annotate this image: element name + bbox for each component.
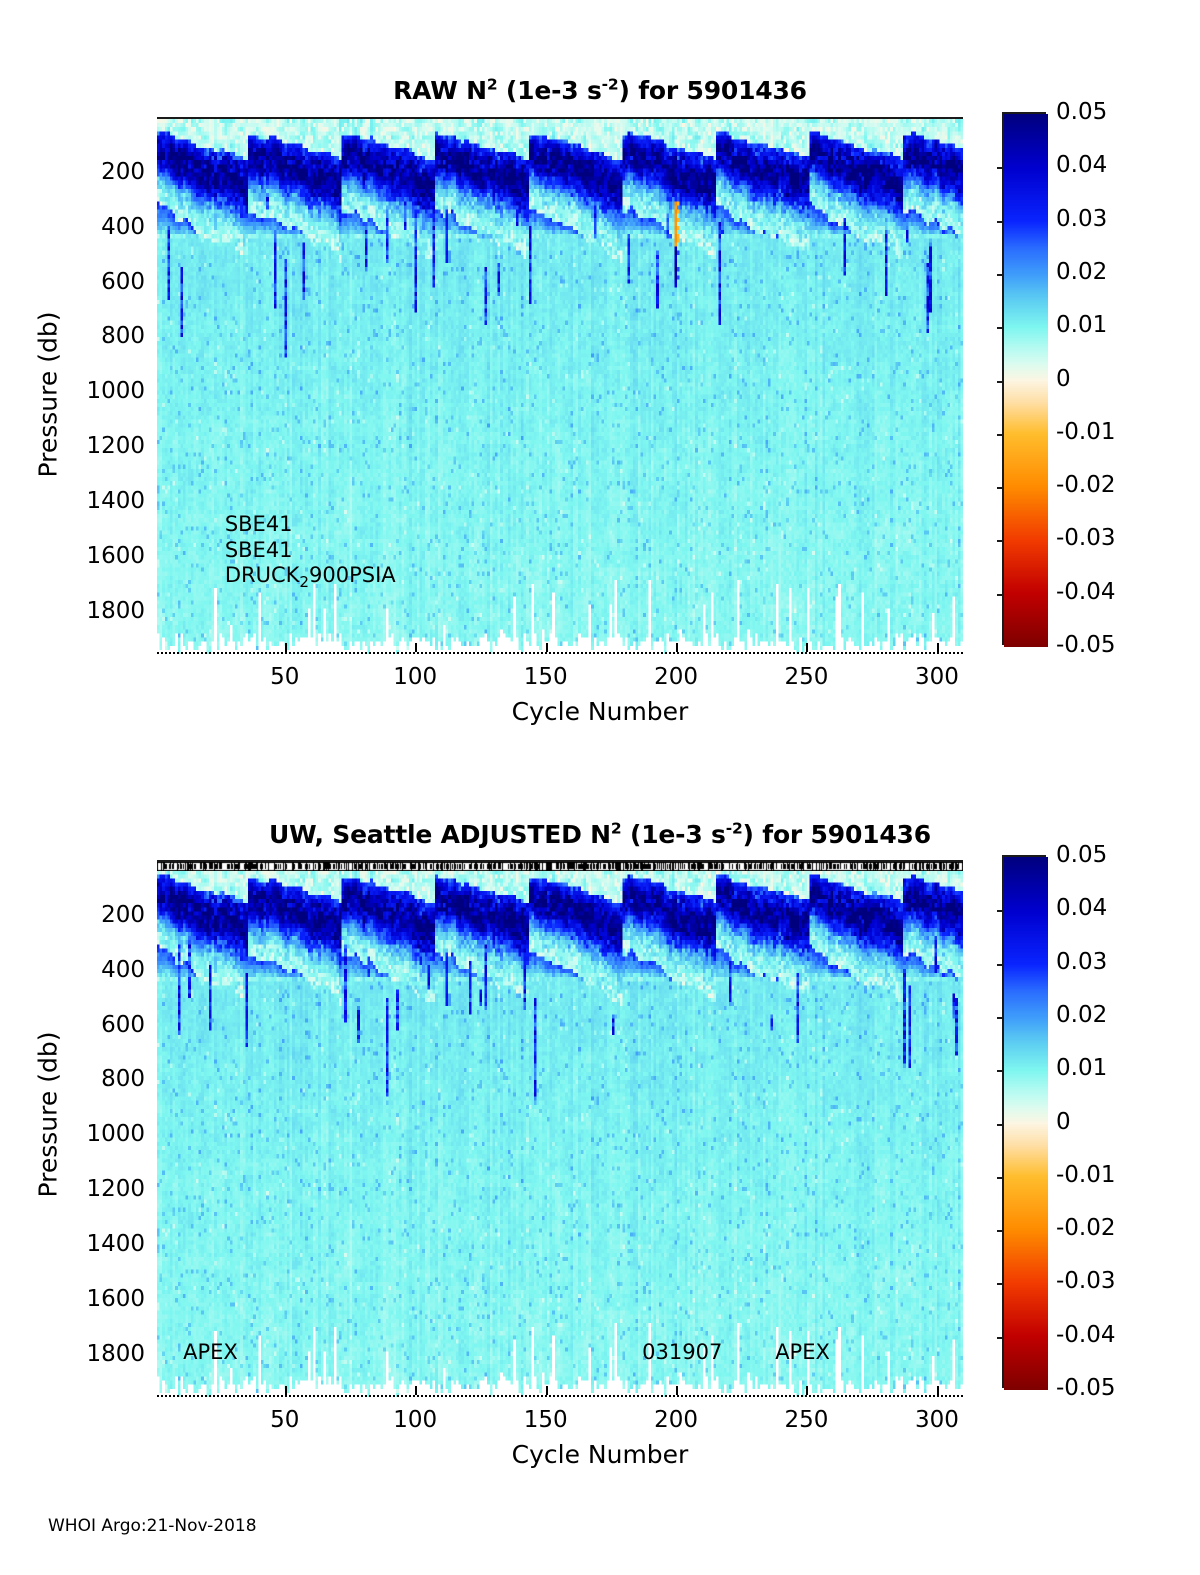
adjusted-colorbar-label-1: 0.04	[1056, 895, 1107, 921]
panel-raw-xtick-150: 150	[524, 664, 568, 690]
panel-adj-ytick-800: 800	[5, 1066, 145, 1092]
raw-colorbar-label-1: 0.04	[1056, 152, 1107, 178]
panel-raw-ytick-1800: 1800	[5, 598, 145, 624]
raw-colorbar-label-7: -0.02	[1056, 472, 1116, 498]
raw-colorbar-tickmark-9	[997, 594, 1004, 596]
float-serial: 031907	[642, 1340, 722, 1364]
panel-raw-xtick-200: 200	[654, 664, 698, 690]
panel-adjusted-title-prefix: UW, Seattle ADJUSTED N	[269, 820, 611, 849]
panel-adj-ytick-1600: 1600	[5, 1286, 145, 1312]
argo-n2-section-figure: RAW N2 (1e-3 s-2) for 5901436 Pressure (…	[0, 0, 1200, 1575]
panel-adjusted-title: UW, Seattle ADJUSTED N2 (1e-3 s-2) for 5…	[0, 820, 1200, 849]
raw-colorbar-tickmark-6	[997, 434, 1004, 436]
panel-raw-ytick-1600: 1600	[5, 543, 145, 569]
panel-adj-xtickmark-250	[806, 1386, 808, 1395]
raw-colorbar-label-9: -0.04	[1056, 579, 1116, 605]
panel-raw-xtickmark-250	[806, 643, 808, 652]
adjusted-colorbar-label-6: -0.01	[1056, 1162, 1116, 1188]
panel-adj-ytick-400: 400	[5, 957, 145, 983]
panel-adjusted-plot-area	[157, 860, 963, 1397]
instrument-ctd-2: SBE41	[225, 538, 293, 562]
instrument-pressure-sensor-sub: 2	[299, 573, 309, 591]
raw-colorbar-tickmark-7	[997, 487, 1004, 489]
panel-adj-ytick-600: 600	[5, 1012, 145, 1038]
panel-raw-xtick-300: 300	[915, 664, 959, 690]
panel-adjusted-xaxis-label: Cycle Number	[0, 1440, 1200, 1469]
adjusted-colorbar-label-7: -0.02	[1056, 1215, 1116, 1241]
adjusted-colorbar-label-5: 0	[1056, 1109, 1071, 1135]
adjusted-colorbar-label-0: 0.05	[1056, 842, 1107, 868]
raw-colorbar-tickmark-5	[997, 381, 1004, 383]
adjusted-colorbar-label-2: 0.03	[1056, 949, 1107, 975]
panel-raw-title-mid: (1e-3 s	[497, 76, 601, 105]
panel-raw-title-prefix: RAW N	[393, 76, 487, 105]
panel-adj-ytick-1400: 1400	[5, 1231, 145, 1257]
raw-colorbar	[1002, 112, 1046, 645]
raw-colorbar-tickmark-3	[997, 274, 1004, 276]
raw-colorbar-gradient	[1004, 114, 1048, 647]
panel-raw-bottom-axis	[157, 652, 963, 654]
panel-adj-xtickmark-50	[285, 1386, 287, 1395]
adjusted-colorbar-tickmark-6	[997, 1177, 1004, 1179]
panel-raw-ytick-600: 600	[5, 269, 145, 295]
raw-colorbar-label-10: -0.05	[1056, 632, 1116, 658]
panel-adj-ytick-200: 200	[5, 902, 145, 928]
raw-colorbar-tickmark-1	[997, 167, 1004, 169]
raw-colorbar-tickmark-8	[997, 540, 1004, 542]
panel-adj-xtick-300: 300	[915, 1407, 959, 1433]
panel-adj-xtickmark-200	[676, 1386, 678, 1395]
instrument-ctd-1: SBE41	[225, 512, 293, 536]
adjusted-colorbar-tickmark-7	[997, 1230, 1004, 1232]
panel-raw-ytick-1200: 1200	[5, 433, 145, 459]
panel-adj-ytick-1200: 1200	[5, 1176, 145, 1202]
raw-colorbar-tickmark-2	[997, 221, 1004, 223]
adjusted-colorbar-tickmark-9	[997, 1337, 1004, 1339]
panel-adjusted-title-sup2: -2	[726, 820, 743, 838]
panel-adj-ytick-1000: 1000	[5, 1121, 145, 1147]
panel-adjusted-profile-marker-strip	[157, 862, 963, 871]
float-type-right: APEX	[775, 1340, 830, 1364]
instrument-pressure-sensor: DRUCK2900PSIA	[225, 563, 396, 587]
adjusted-colorbar-tickmark-8	[997, 1283, 1004, 1285]
panel-adjusted-heatmap	[157, 862, 963, 1397]
adjusted-colorbar-tickmark-1	[997, 910, 1004, 912]
adjusted-colorbar-label-4: 0.01	[1056, 1055, 1107, 1081]
panel-raw-xtick-50: 50	[270, 664, 299, 690]
panel-raw-xtickmark-100	[415, 643, 417, 652]
panel-adj-xtick-100: 100	[393, 1407, 437, 1433]
panel-adjusted-title-sup1: 2	[611, 820, 622, 838]
adjusted-colorbar-label-9: -0.04	[1056, 1322, 1116, 1348]
adjusted-colorbar	[1002, 855, 1046, 1388]
panel-raw-xtickmark-150	[546, 643, 548, 652]
panel-raw-xtickmark-50	[285, 643, 287, 652]
panel-raw-ytick-200: 200	[5, 159, 145, 185]
panel-raw-ytick-1400: 1400	[5, 488, 145, 514]
adjusted-colorbar-tickmark-3	[997, 1017, 1004, 1019]
panel-adj-xtick-50: 50	[270, 1407, 299, 1433]
panel-adj-xtick-250: 250	[785, 1407, 829, 1433]
adjusted-colorbar-tickmark-5	[997, 1124, 1004, 1126]
raw-colorbar-label-6: -0.01	[1056, 419, 1116, 445]
float-type-left: APEX	[183, 1340, 238, 1364]
raw-colorbar-label-5: 0	[1056, 366, 1071, 392]
raw-colorbar-label-0: 0.05	[1056, 99, 1107, 125]
adjusted-colorbar-label-8: -0.03	[1056, 1268, 1116, 1294]
instrument-pressure-sensor-pre: DRUCK	[225, 563, 300, 587]
adjusted-colorbar-tickmark-2	[997, 964, 1004, 966]
panel-raw-title: RAW N2 (1e-3 s-2) for 5901436	[0, 76, 1200, 105]
panel-raw-title-sup1: 2	[487, 76, 498, 94]
raw-colorbar-label-8: -0.03	[1056, 525, 1116, 551]
raw-colorbar-label-2: 0.03	[1056, 206, 1107, 232]
panel-raw-ytick-1000: 1000	[5, 378, 145, 404]
panel-raw-xtickmark-300	[937, 643, 939, 652]
panel-adj-xtickmark-300	[937, 1386, 939, 1395]
panel-adj-xtickmark-150	[546, 1386, 548, 1395]
raw-colorbar-label-3: 0.02	[1056, 259, 1107, 285]
raw-colorbar-label-4: 0.01	[1056, 312, 1107, 338]
panel-adj-xtickmark-100	[415, 1386, 417, 1395]
adjusted-colorbar-label-3: 0.02	[1056, 1002, 1107, 1028]
panel-adj-ytick-1800: 1800	[5, 1341, 145, 1367]
panel-raw-ytick-800: 800	[5, 323, 145, 349]
panel-adjusted-title-suffix: ) for 5901436	[743, 820, 931, 849]
adjusted-colorbar-tickmark-4	[997, 1070, 1004, 1072]
panel-raw-ytick-400: 400	[5, 214, 145, 240]
adjusted-colorbar-label-10: -0.05	[1056, 1375, 1116, 1401]
adjusted-colorbar-gradient	[1004, 857, 1048, 1390]
panel-adjusted-bottom-axis	[157, 1395, 963, 1397]
panel-adj-xtick-200: 200	[654, 1407, 698, 1433]
panel-raw-title-suffix: ) for 5901436	[618, 76, 806, 105]
panel-raw-title-sup2: -2	[602, 76, 619, 94]
figure-footer: WHOI Argo:21-Nov-2018	[48, 1516, 257, 1536]
instrument-pressure-sensor-post: 900PSIA	[309, 563, 396, 587]
panel-raw-xtickmark-200	[676, 643, 678, 652]
panel-raw-xtick-100: 100	[393, 664, 437, 690]
raw-colorbar-tickmark-4	[997, 327, 1004, 329]
panel-raw-xtick-250: 250	[785, 664, 829, 690]
panel-adj-xtick-150: 150	[524, 1407, 568, 1433]
panel-adjusted-title-mid: (1e-3 s	[621, 820, 725, 849]
